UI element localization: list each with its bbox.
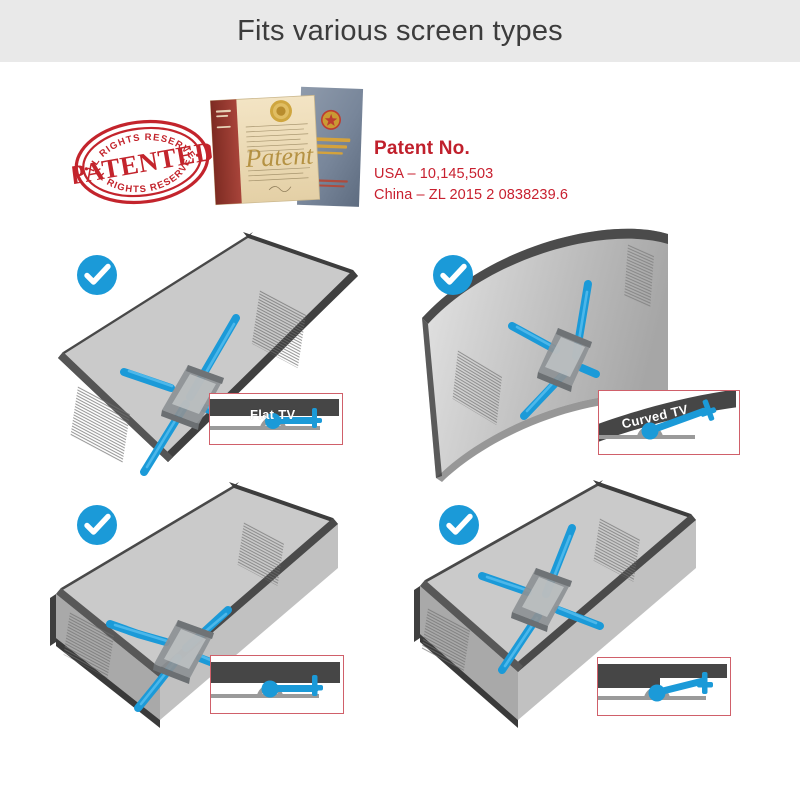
patent-number-block: Patent No. USA – 10,145,503 China – ZL 2… [374, 137, 704, 206]
svg-text:Patent: Patent [244, 140, 315, 173]
stepped-tv-detail-inset-high [597, 657, 731, 716]
check-circle-icon [438, 504, 480, 546]
flat-tv-detail-inset: Flat TV [209, 393, 343, 445]
flat-tv-panel [38, 228, 398, 493]
patent-section: ALL RIGHTS RESERVED ALL RIGHTS RESERVED … [0, 62, 800, 227]
check-circle-icon [76, 254, 118, 296]
patent-certificates-image: Patent [205, 84, 385, 212]
patent-line-china: China – ZL 2015 2 0838239.6 [374, 185, 704, 206]
header-band: Fits various screen types [0, 0, 800, 62]
stepped-tv-detail-inset-low [210, 655, 344, 714]
check-circle-icon [76, 504, 118, 546]
patent-line-usa: USA – 10,145,503 [374, 164, 704, 185]
curved-tv-detail-inset: Curved TV [598, 390, 740, 455]
page-title: Fits various screen types [237, 15, 563, 48]
infographic-page: Fits various screen types ALL RIGHTS RES… [0, 0, 800, 800]
patent-heading: Patent No. [374, 137, 704, 161]
patented-stamp-icon: ALL RIGHTS RESERVED ALL RIGHTS RESERVED … [66, 102, 218, 222]
check-circle-icon [432, 254, 474, 296]
